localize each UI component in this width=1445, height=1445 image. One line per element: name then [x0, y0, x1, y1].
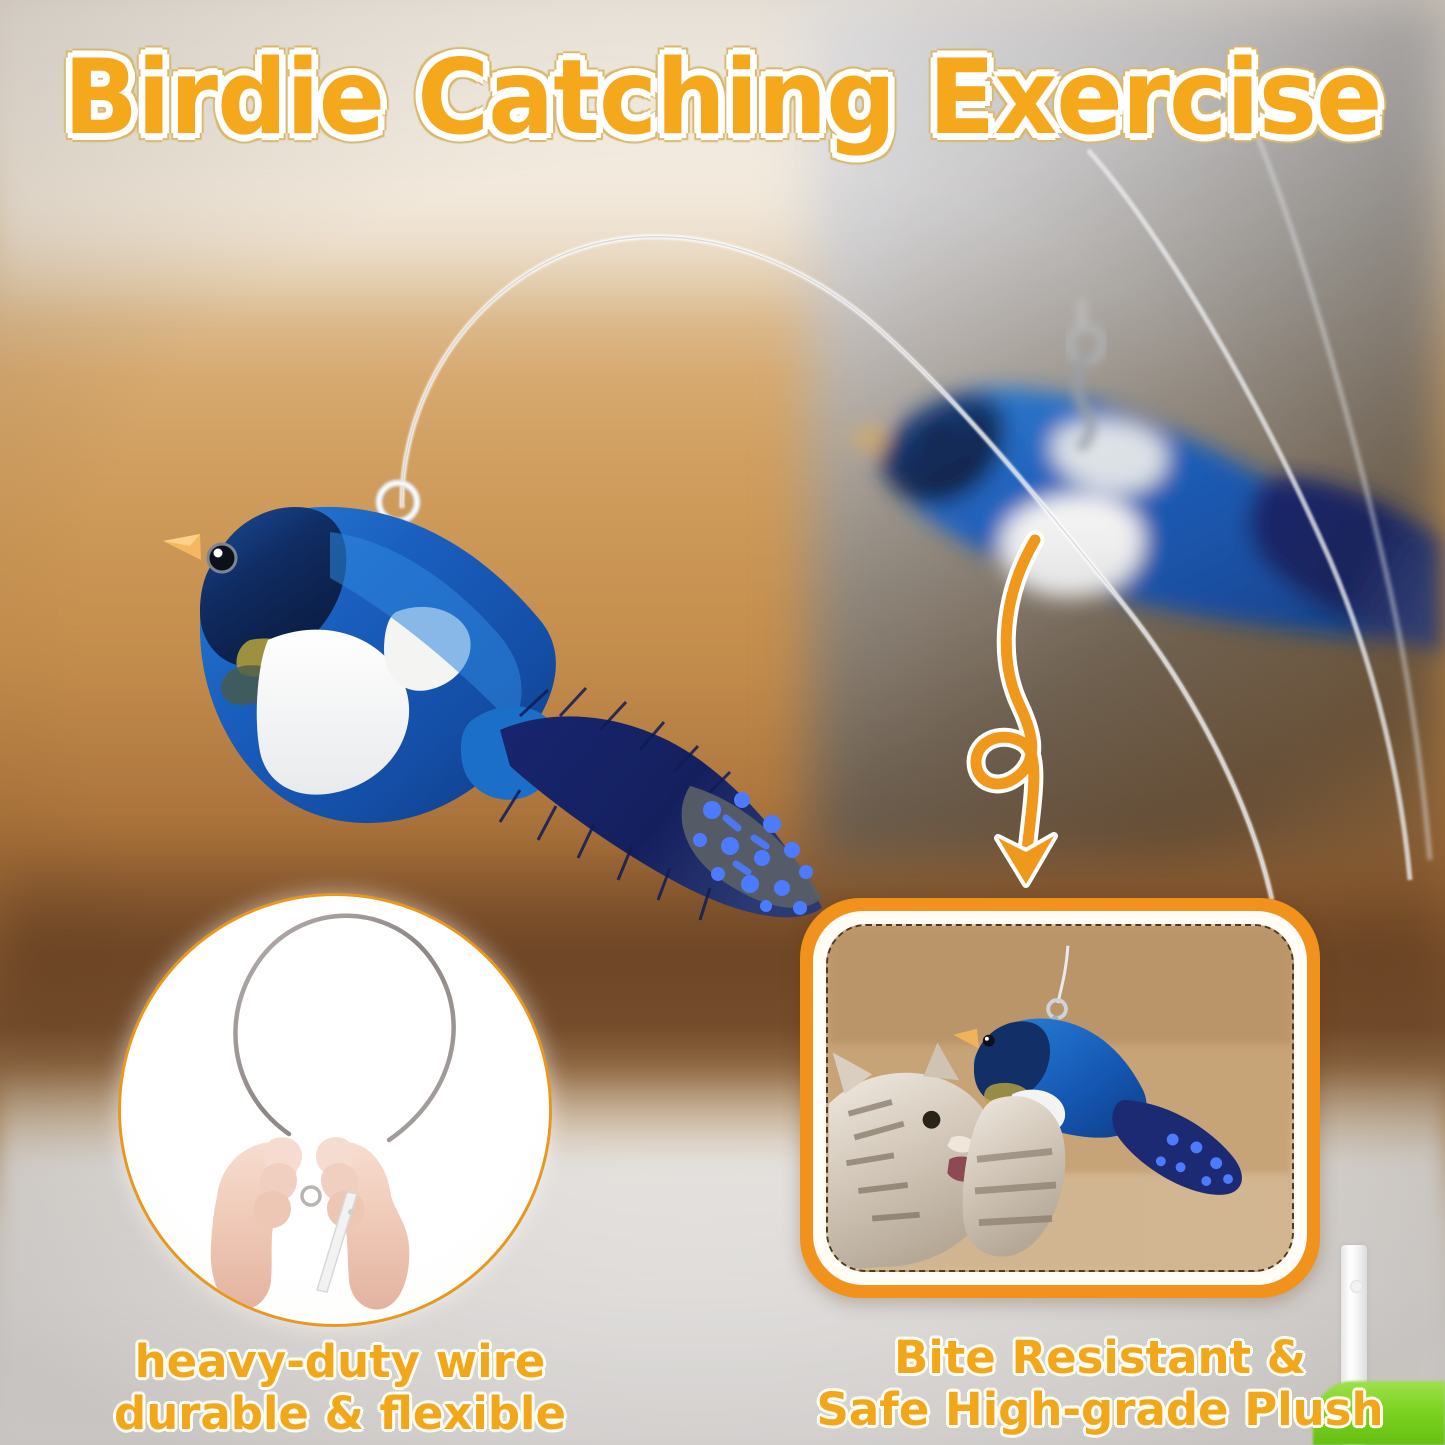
left-hand: [211, 1137, 302, 1309]
caption-left-line1: heavy-duty wire: [60, 1336, 620, 1388]
inset-left-photo: [121, 896, 549, 1324]
caption-right-line1: Bite Resistant &: [770, 1332, 1430, 1384]
inset-right-photo: [826, 924, 1294, 1272]
caption-right: Bite Resistant & Safe High-grade Plush: [770, 1332, 1430, 1436]
caption-left: heavy-duty wire durable & flexible: [60, 1336, 620, 1440]
page-title: Birdie Catching Exercise: [36, 44, 1409, 152]
caption-left-line2: durable & flexible: [60, 1388, 620, 1440]
product-marketing-image: Birdie Catching Exercise: [0, 0, 1445, 1445]
toy-stand-knob: [1350, 1280, 1363, 1293]
caption-right-line2: Safe High-grade Plush: [770, 1384, 1430, 1436]
inset-bite-resistant: [800, 898, 1320, 1298]
inset-heavy-duty-wire: [118, 893, 552, 1327]
wire-ring: [302, 1187, 320, 1205]
